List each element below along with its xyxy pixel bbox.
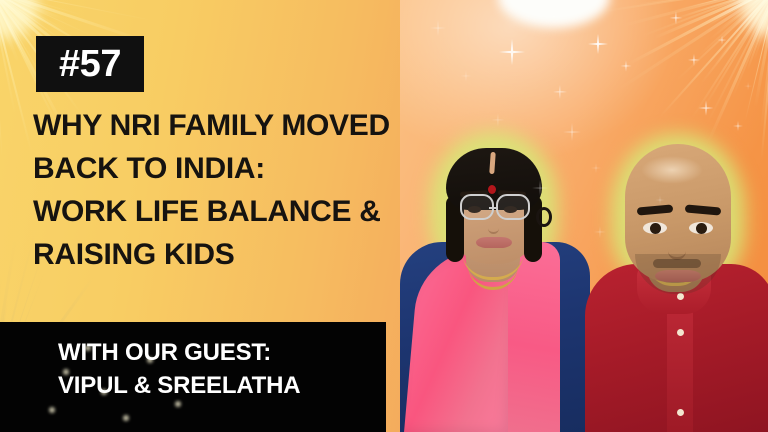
guest-names: WITH OUR GUEST:VIPUL & SREELATHA [58,336,300,402]
woman-eyeglass-right [496,194,530,220]
woman-bindi [488,185,496,194]
woman-nose [488,218,499,234]
video-title: WHY NRI FAMILY MOVEDBACK TO INDIA:WORK L… [33,104,413,276]
episode-number-label: #57 [59,45,121,83]
man-button-middle [677,329,684,336]
title-line-2: BACK TO INDIA: [33,147,413,190]
man-eye-left [643,222,667,234]
guest-photo-vipul [585,102,768,432]
guest-line-1: WITH OUR GUEST: [58,336,300,369]
woman-earring [536,207,552,227]
man-button-bottom [677,409,684,416]
title-line-3: WORK LIFE BALANCE & [33,190,413,233]
man-eye-right [689,222,713,234]
woman-mouth [476,237,512,248]
title-line-1: WHY NRI FAMILY MOVED [33,104,413,147]
youtube-thumbnail: #57 WHY NRI FAMILY MOVEDBACK TO INDIA:WO… [0,0,768,432]
man-mouth [655,270,701,282]
guest-photo-sreelatha [400,112,590,432]
woman-eyeglass-bridge [489,207,498,209]
title-line-4: RAISING KIDS [33,233,413,276]
episode-number-badge: #57 [36,36,144,92]
light-dot [123,415,129,421]
guest-line-2: VIPUL & SREELATHA [58,369,300,402]
man-moustache [653,259,701,268]
man-button-top [677,293,684,300]
man-forehead-highlight [641,156,703,184]
light-dot [49,407,55,413]
